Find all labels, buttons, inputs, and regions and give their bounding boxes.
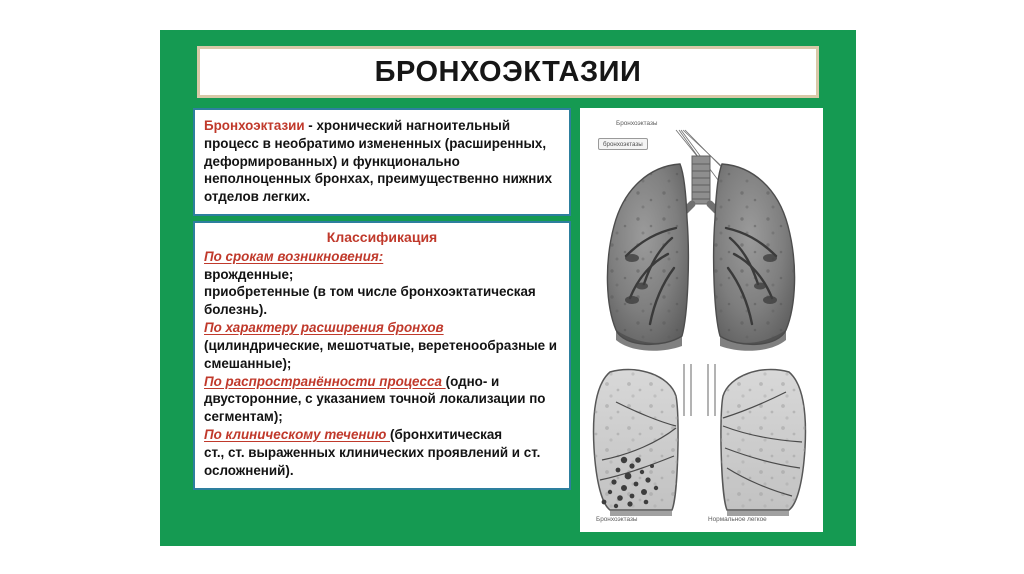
presentation-slide: БРОНХОЭКТАЗИИ Бронхоэктазии - хронически… <box>160 30 856 546</box>
classification-section-1: По срокам возникновения:врожденные; прио… <box>204 248 560 319</box>
classification-section-3: По распространённости процесса (одно- ид… <box>204 373 560 426</box>
definition-term: Бронхоэктазии <box>204 118 305 133</box>
central-airways <box>684 364 715 416</box>
section-head-extent-trailing: (одно- и <box>446 374 500 389</box>
classification-heading: Классификация <box>204 228 560 247</box>
section-body-terms: врожденные; приобретенные (в том числе б… <box>204 266 560 319</box>
figure-label-bronchiectasis-bottom: Бронхоэктазы <box>596 516 638 523</box>
slide-title-box: БРОНХОЭКТАЗИИ <box>197 46 819 98</box>
lung-cross-section-illustration <box>580 356 823 532</box>
definition-paragraph: Бронхоэктазии - хронический нагноительны… <box>204 117 560 206</box>
illustration-panel: Бронхоэктазы бронхоэктазы <box>580 108 823 532</box>
lung-cross-section-figure: Бронхоэктазы Нормальное легкое <box>580 356 823 532</box>
left-lung-texture <box>607 164 688 344</box>
section-head-extent: По распространённости процесса <box>204 374 446 389</box>
page-title: БРОНХОЭКТАЗИИ <box>375 56 642 89</box>
section-body-extent: двусторонние, с указанием точной локализ… <box>204 390 560 426</box>
right-lung-texture <box>714 164 795 344</box>
text-column: Бронхоэктазии - хронический нагноительны… <box>193 108 571 490</box>
classification-section-2: По характеру расширения бронхов(цилиндри… <box>204 319 560 372</box>
section-body-course: ст., ст. выраженных клинических проявлен… <box>204 444 560 480</box>
section-body-dilation: (цилиндрические, мешотчатые, веретенообр… <box>204 337 560 373</box>
definition-box: Бронхоэктазии - хронический нагноительны… <box>193 108 571 216</box>
section-head-course-trailing: (бронхитическая <box>390 427 502 442</box>
anterior-lungs-figure: Бронхоэктазы бронхоэктазы <box>580 108 823 358</box>
section-head-terms: По срокам возникновения: <box>204 248 560 266</box>
normal-lung-section <box>721 369 806 516</box>
figure-label-bronchiectasis-top: Бронхоэктазы <box>616 120 658 127</box>
classification-section-4: По клиническому течению (бронхитическаяс… <box>204 426 560 479</box>
figure-label-normal-lung: Нормальное легкое <box>708 516 767 523</box>
classification-box: Классификация По срокам возникновения:вр… <box>193 221 571 489</box>
section-head-course: По клиническому течению <box>204 427 390 442</box>
definition-dash: - <box>305 118 317 133</box>
figure-label-bronchiectasis-boxed: бронхоэктазы <box>598 138 648 150</box>
slide-canvas: БРОНХОЭКТАЗИИ Бронхоэктазии - хронически… <box>0 0 1024 574</box>
section-head-dilation: По характеру расширения бронхов <box>204 319 560 337</box>
bronchiectatic-lung-section <box>594 369 679 516</box>
